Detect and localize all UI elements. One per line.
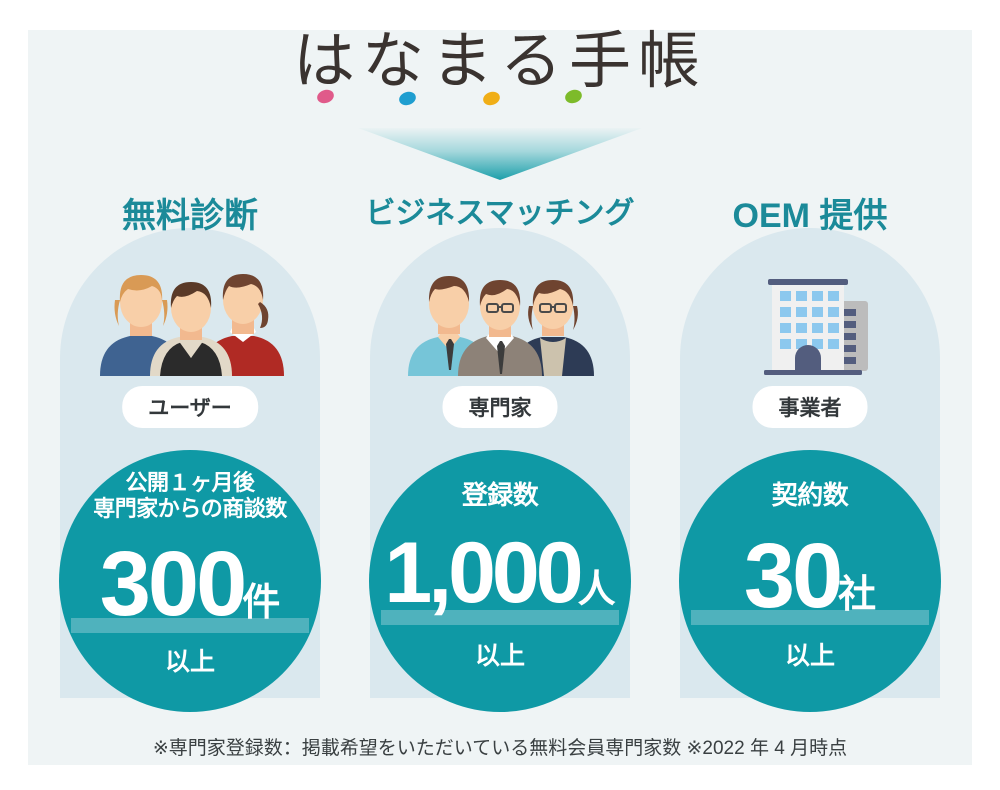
office-building-icon xyxy=(710,266,910,376)
stat-value-row: 300件 xyxy=(59,538,321,630)
stat-value-row: 1,000人 xyxy=(369,530,631,616)
column-oem-supply: OEM 提供 xyxy=(660,188,960,728)
stat-caption: 契約数 xyxy=(679,480,941,511)
stat-caption-line-1: 登録数 xyxy=(369,480,631,511)
column-title: 無料診断 xyxy=(40,188,340,237)
columns-container: 無料診断 xyxy=(0,0,1000,790)
stat-suffix: 以上 xyxy=(369,636,631,672)
stat-caption-line-2: 専門家からの商談数 xyxy=(59,496,321,522)
stat-value-row: 30社 xyxy=(679,530,941,622)
stat-circle-consultations: 公開１ヶ月後 専門家からの商談数 300件 以上 xyxy=(59,450,321,712)
pill-label-business: 事業者 xyxy=(753,386,868,428)
footnote: ※専門家登録数：掲載希望をいただいている無料会員専門家数 ※2022 年 4 月… xyxy=(28,733,972,760)
column-title: ビジネスマッチング xyxy=(350,188,650,232)
stat-suffix: 以上 xyxy=(59,642,321,678)
column-business-matching: ビジネスマッチング xyxy=(350,188,650,728)
stat-number: 300 xyxy=(100,533,245,635)
three-users-icon xyxy=(90,266,290,376)
stat-suffix: 以上 xyxy=(679,636,941,672)
stat-number: 30 xyxy=(744,525,840,627)
stat-unit: 社 xyxy=(838,574,876,616)
stat-caption-line-1: 公開１ヶ月後 xyxy=(59,470,321,496)
pill-label-user: ユーザー xyxy=(122,386,258,428)
stat-caption: 公開１ヶ月後 専門家からの商談数 xyxy=(59,470,321,522)
stat-circle-registrations: 登録数 1,000人 以上 xyxy=(369,450,631,712)
column-title: OEM 提供 xyxy=(660,188,960,237)
stat-circle-contracts: 契約数 30社 以上 xyxy=(679,450,941,712)
stat-unit: 人 xyxy=(578,569,616,611)
stat-unit: 件 xyxy=(242,582,280,624)
column-free-diagnosis: 無料診断 xyxy=(40,188,340,728)
stat-number: 1,000 xyxy=(384,525,579,621)
pill-label-expert: 専門家 xyxy=(443,386,558,428)
stat-caption: 登録数 xyxy=(369,480,631,511)
infographic-root: はなまる手帳 無料診断 xyxy=(0,0,1000,790)
stat-caption-line-1: 契約数 xyxy=(679,480,941,511)
three-experts-icon xyxy=(400,266,600,376)
